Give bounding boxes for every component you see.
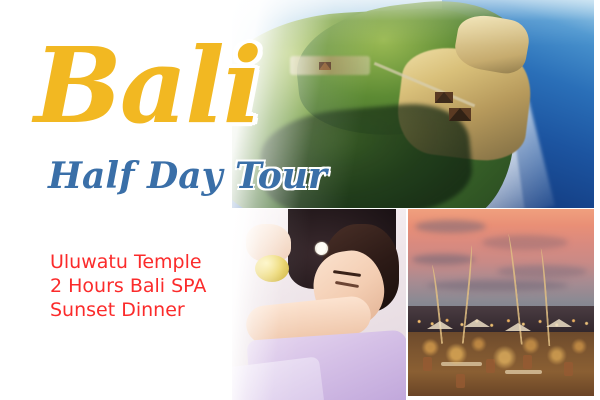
list-item: 2 Hours Bali SPA (50, 274, 206, 298)
list-item: Uluwatu Temple (50, 250, 206, 274)
list-item: Sunset Dinner (50, 298, 206, 322)
photo-white-fade-overlay (232, 209, 406, 400)
bali-spa-photo (232, 209, 406, 400)
bali-tour-advertisement: Bali Half Day Tour Uluwatu Temple 2 Hour… (0, 0, 600, 400)
candle-light-glow (408, 325, 594, 381)
sunset-dinner-photo (408, 209, 594, 396)
destination-title: Bali (34, 34, 260, 138)
tour-feature-list: Uluwatu Temple 2 Hours Bali SPA Sunset D… (50, 250, 206, 322)
cloud (482, 235, 568, 250)
cloud (412, 254, 475, 265)
tour-subtitle: Half Day Tour (48, 158, 327, 194)
